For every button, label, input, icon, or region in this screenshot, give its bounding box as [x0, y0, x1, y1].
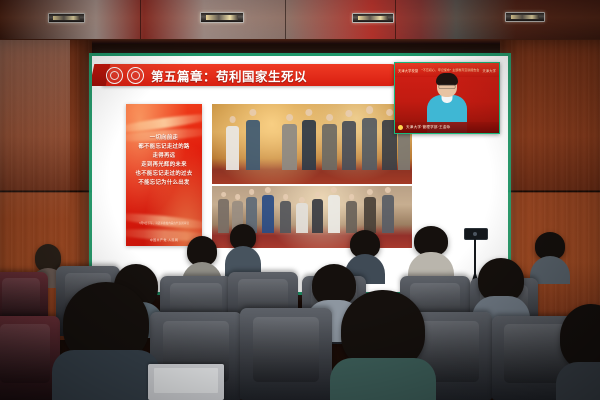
audience-person [530, 232, 570, 284]
ceiling [0, 0, 600, 44]
audience-person-foreground [330, 290, 436, 400]
pip-speaker-name: 天津大学·管理学部·王金咏 [406, 125, 450, 130]
slide-title-text: 第五篇章：苟利国家生死以 [151, 66, 307, 85]
poster-line: 不能忘记为什么出发 [128, 179, 200, 188]
ceiling-light [48, 13, 85, 23]
chair [240, 308, 332, 400]
poster-line: 走得再远 [128, 152, 200, 161]
slide-title-bar: 第五篇章：苟利国家生死以 [102, 64, 402, 86]
poster-line: 走到再光辉的未来 [128, 161, 200, 170]
chair [0, 316, 60, 400]
slide-artwork-top [212, 104, 412, 184]
pip-name-plate: 天津大学·管理学部·王金咏 [395, 122, 499, 133]
pip-logo-right: 天津大学 [482, 68, 496, 73]
poster-line: 也不能忘记走过的过去 [128, 170, 200, 179]
university-emblem-icon [106, 67, 123, 84]
poster-slogan: 一切向前走 都不能忘记走过的路 走得再远 走到再光辉的未来 也不能忘记走过的过去… [128, 134, 200, 188]
poster-line: 一切向前走 [128, 134, 200, 143]
university-emblem-icon [127, 67, 144, 84]
audience-area [0, 250, 600, 400]
audience-person-foreground [556, 304, 600, 400]
poster-caption: 3月5日下午，习近平参加内蒙古代表团审议 [130, 222, 198, 226]
camera-icon [464, 228, 488, 240]
ceiling-light [200, 12, 244, 23]
live-video-overlay: 天津大学校徽 "不忘初心、牢记使命" 主题教育宣讲报告会 天津大学 天津大学·管… [394, 62, 500, 134]
party-emblem-icon [398, 125, 403, 130]
audience-laptop [148, 364, 224, 400]
pip-logo-left: 天津大学校徽 [398, 68, 418, 73]
lecture-hall-photo: 第五篇章：苟利国家生死以 一切向前走 都不能忘记走过的路 走得再远 走到再光辉的… [0, 0, 600, 400]
pip-banner-text: "不忘初心、牢记使命" 主题教育宣讲报告会 [418, 68, 482, 72]
ceiling-light [505, 12, 545, 22]
glasses-icon [439, 84, 456, 89]
poster-line: 都不能忘记走过的路 [128, 143, 200, 152]
audience-person-foreground [52, 282, 160, 400]
poster-logo: 中国共产党·人民网 [150, 238, 179, 242]
ceiling-light [352, 13, 394, 23]
slide-red-poster: 一切向前走 都不能忘记走过的路 走得再远 走到再光辉的未来 也不能忘记走过的过去… [126, 104, 202, 246]
